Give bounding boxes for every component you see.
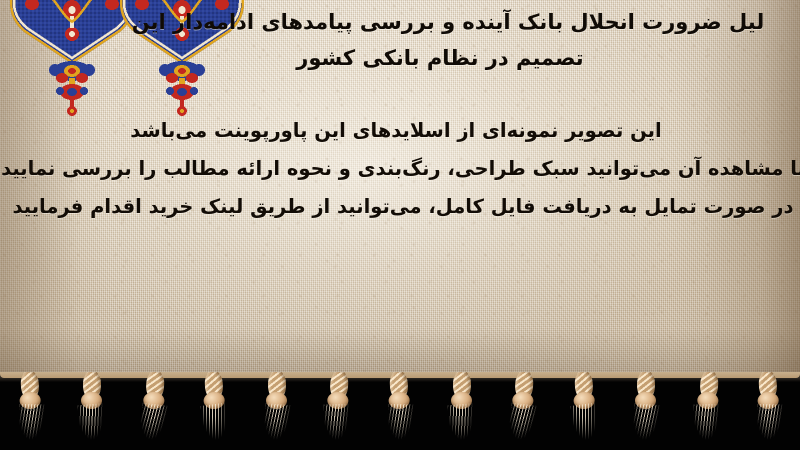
- fringe-tassel: [323, 372, 353, 445]
- tassel-strands: [19, 404, 46, 444]
- tassel-strands: [447, 403, 476, 445]
- tassel-strands: [138, 403, 169, 446]
- fringe-tassel: [508, 372, 538, 445]
- slide-title-line-2: تصمیم در نظام بانکی کشور: [0, 40, 800, 76]
- tassel-strands: [388, 404, 415, 444]
- tassel-strands: [77, 403, 106, 445]
- fringe-tassel: [264, 372, 290, 444]
- tassel-strands: [693, 404, 720, 445]
- fringe-tassel: [693, 372, 723, 445]
- slide-body-line-3: در صورت تمایل به دریافت فایل کامل، می‌تو…: [0, 188, 800, 226]
- slide-title-line-1: لیل ضرورت انحلال بانک آینده و بررسی پیام…: [0, 4, 800, 40]
- tassel-strands: [632, 403, 661, 445]
- fringe-tassel: [449, 372, 475, 444]
- fringe-tassel: [633, 372, 659, 444]
- tassel-strands: [507, 403, 538, 446]
- slide-body-line-2: با مشاهده آن می‌توانید سبک طراحی، رنگ‌بن…: [0, 150, 800, 188]
- tassel-strands: [263, 403, 292, 445]
- tassel-strands: [200, 402, 231, 445]
- fringe-tassel: [754, 372, 784, 445]
- fringe-tassel: [200, 372, 230, 445]
- tassel-strands: [757, 404, 784, 444]
- fringe-tassel: [79, 372, 105, 444]
- slide-title: لیل ضرورت انحلال بانک آینده و بررسی پیام…: [0, 4, 800, 76]
- fringe-tassel: [570, 372, 600, 445]
- tassel-strands: [323, 404, 350, 445]
- fringe-tassel: [16, 372, 46, 445]
- carpet-fringe-tassels: [0, 372, 800, 450]
- slide-body-line-1: این تصویر نمونه‌ای از اسلایدهای این پاور…: [0, 112, 792, 150]
- fringe-tassel: [139, 372, 169, 445]
- slide-canvas: لیل ضرورت انحلال بانک آینده و بررسی پیام…: [0, 0, 800, 450]
- slide-body: این تصویر نمونه‌ای از اسلایدهای این پاور…: [0, 112, 800, 226]
- fringe-tassel: [385, 372, 415, 445]
- tassel-strands: [570, 402, 601, 445]
